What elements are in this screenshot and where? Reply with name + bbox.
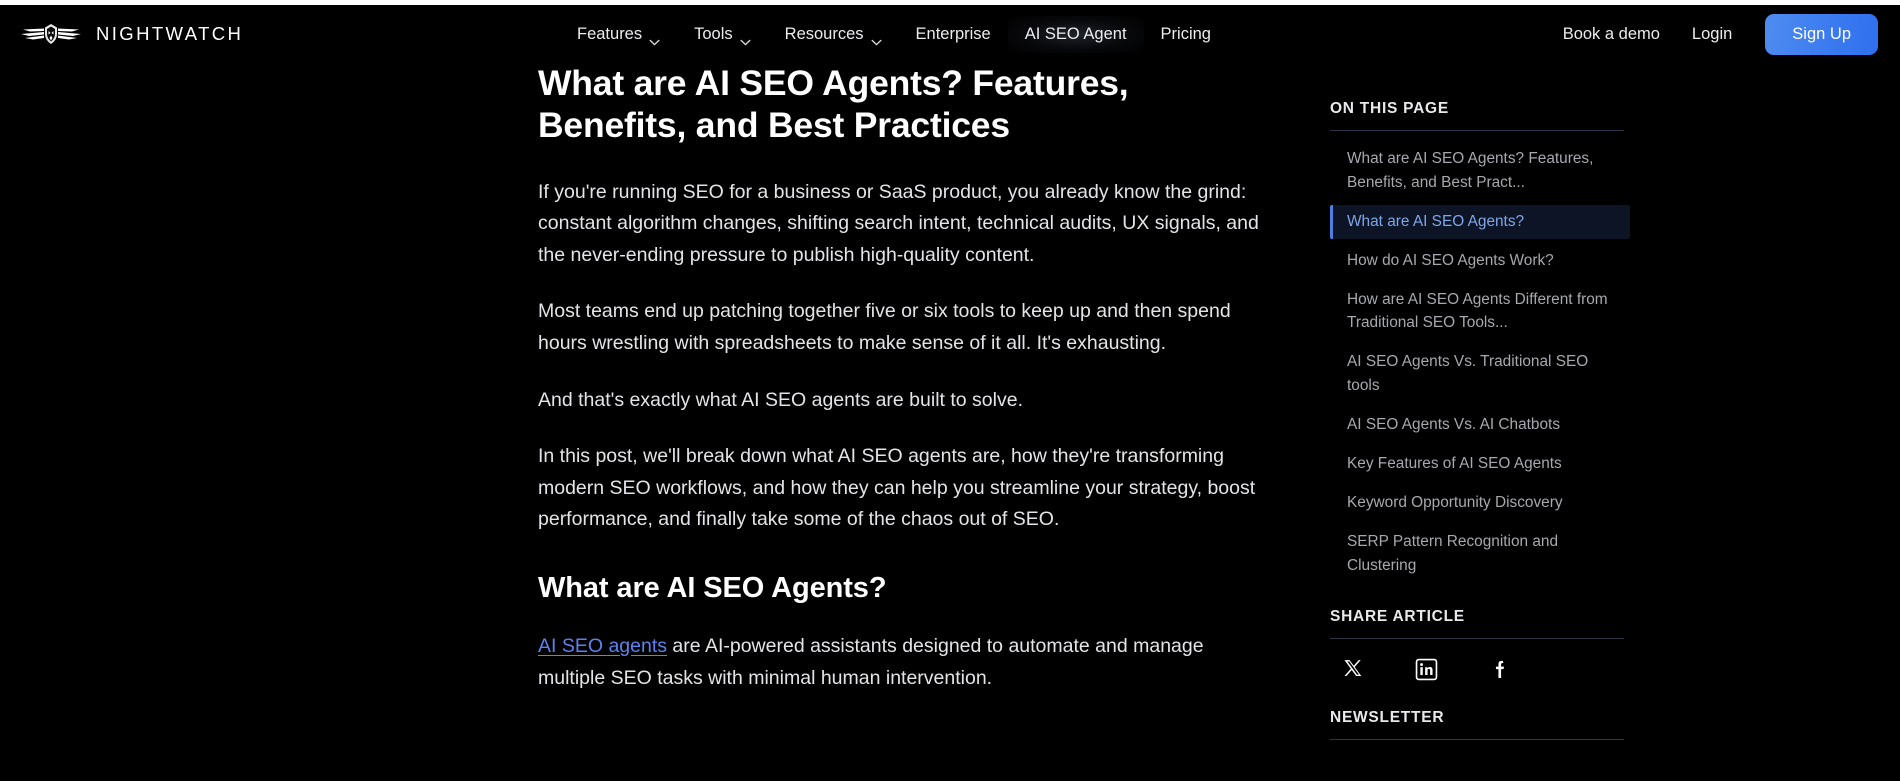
chevron-down-icon (740, 32, 751, 39)
toc-item[interactable]: SERP Pattern Recognition and Clustering (1330, 525, 1630, 583)
toc-item[interactable]: How are AI SEO Agents Different from Tra… (1330, 283, 1630, 341)
nav-item-label: Resources (785, 25, 864, 44)
divider (1330, 130, 1624, 131)
toc-item[interactable]: Keyword Opportunity Discovery (1330, 486, 1630, 520)
nav-item-pricing[interactable]: Pricing (1144, 16, 1228, 53)
toc-item[interactable]: AI SEO Agents Vs. AI Chatbots (1330, 408, 1630, 442)
chevron-down-icon (871, 32, 882, 39)
owl-wings-icon (20, 19, 82, 49)
nav-item-label: AI SEO Agent (1025, 25, 1127, 44)
divider (1330, 739, 1624, 740)
article-sidebar: ON THIS PAGE What are AI SEO Agents? Fea… (1330, 100, 1630, 751)
sign-up-button[interactable]: Sign Up (1765, 14, 1878, 55)
primary-nav: Features Tools Resources Enterprise AI S… (560, 16, 1228, 53)
share-article-heading: SHARE ARTICLE (1330, 608, 1630, 626)
nav-item-tools[interactable]: Tools (677, 16, 768, 53)
page-title: What are AI SEO Agents? Features, Benefi… (538, 63, 1228, 147)
brand-name: NIGHTWATCH (96, 23, 243, 45)
chevron-down-icon (649, 32, 660, 39)
facebook-icon[interactable] (1488, 658, 1511, 681)
toc-item[interactable]: What are AI SEO Agents? Features, Benefi… (1330, 142, 1630, 200)
table-of-contents: What are AI SEO Agents? Features, Benefi… (1330, 142, 1630, 582)
nav-item-label: Features (577, 25, 642, 44)
nav-item-label: Enterprise (916, 25, 991, 44)
toc-item[interactable]: Key Features of AI SEO Agents (1330, 447, 1630, 481)
divider (1330, 638, 1624, 639)
article-paragraph: And that's exactly what AI SEO agents ar… (538, 385, 1268, 417)
ai-seo-agents-link[interactable]: AI SEO agents (538, 635, 667, 657)
section-heading: What are AI SEO Agents? (538, 572, 1278, 605)
header-actions: Book a demo Login Sign Up (1547, 14, 1878, 55)
nav-item-label: Tools (694, 25, 733, 44)
newsletter-heading: NEWSLETTER (1330, 709, 1630, 727)
x-twitter-icon[interactable] (1342, 658, 1365, 681)
nav-item-features[interactable]: Features (560, 16, 677, 53)
on-this-page-heading: ON THIS PAGE (1330, 100, 1630, 118)
article-paragraph: Most teams end up patching together five… (538, 296, 1268, 359)
newsletter-section: NEWSLETTER (1330, 709, 1630, 740)
toc-item-active[interactable]: What are AI SEO Agents? (1330, 205, 1630, 239)
nav-item-ai-seo-agent[interactable]: AI SEO Agent (1008, 16, 1144, 53)
toc-item[interactable]: AI SEO Agents Vs. Traditional SEO tools (1330, 345, 1630, 403)
article-paragraph-with-link: AI SEO agents are AI-powered assistants … (538, 631, 1268, 694)
article-body: What are AI SEO Agents? Features, Benefi… (538, 63, 1278, 719)
site-header: NIGHTWATCH Features Tools Resources Ente… (0, 5, 1900, 63)
nav-item-label: Pricing (1161, 25, 1211, 44)
article-paragraph: In this post, we'll break down what AI S… (538, 441, 1268, 536)
article-paragraph: If you're running SEO for a business or … (538, 177, 1268, 272)
nav-item-enterprise[interactable]: Enterprise (899, 16, 1008, 53)
share-icon-row (1330, 658, 1630, 681)
share-article-section: SHARE ARTICLE (1330, 608, 1630, 681)
toc-item[interactable]: How do AI SEO Agents Work? (1330, 244, 1630, 278)
login-link[interactable]: Login (1676, 16, 1748, 53)
book-a-demo-link[interactable]: Book a demo (1547, 16, 1676, 53)
linkedin-icon[interactable] (1415, 658, 1438, 681)
nav-item-resources[interactable]: Resources (768, 16, 899, 53)
brand-logo-link[interactable]: NIGHTWATCH (20, 19, 243, 49)
